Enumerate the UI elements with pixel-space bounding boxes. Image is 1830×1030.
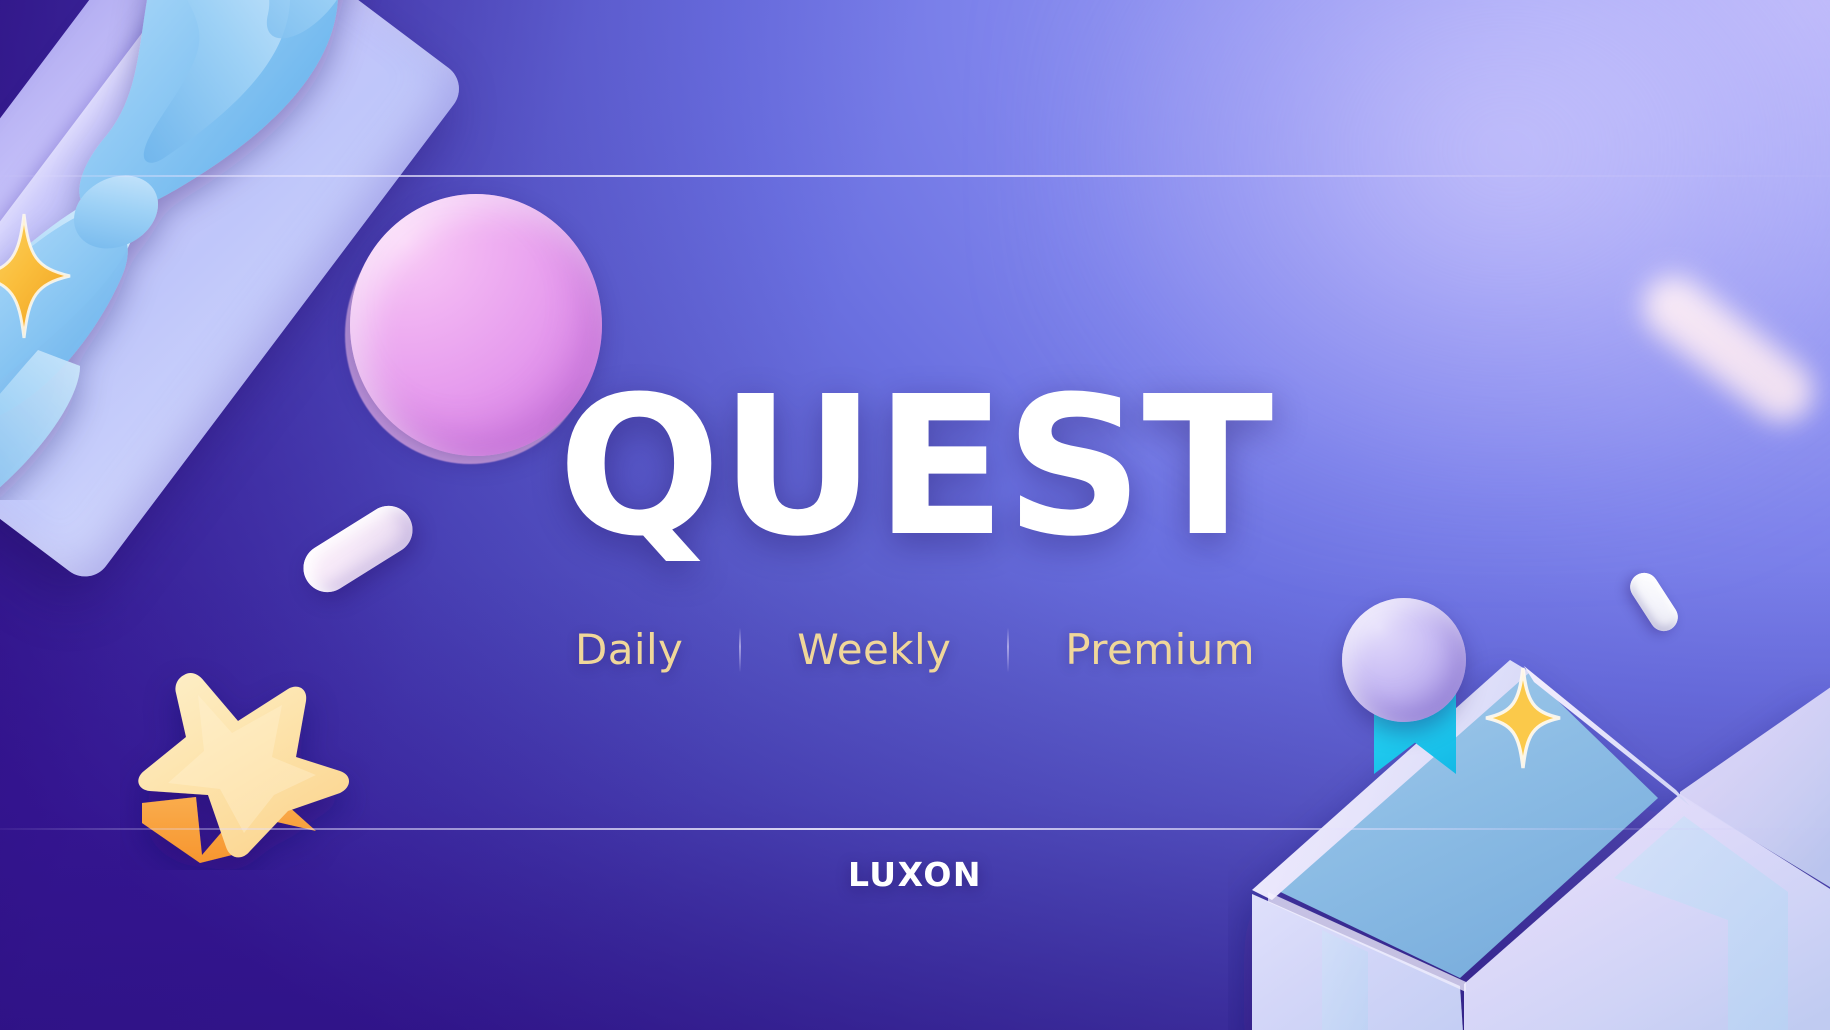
page-title: QUEST (0, 372, 1830, 564)
quest-tier-list: Daily Weekly Premium (0, 625, 1830, 674)
brand-logo: LUXON (0, 855, 1830, 894)
quest-promo-banner: QUEST Daily Weekly Premium LUXON (0, 0, 1830, 1030)
banner-content: QUEST Daily Weekly Premium LUXON (0, 0, 1830, 1030)
quest-tier-daily[interactable]: Daily (519, 625, 739, 674)
quest-tier-weekly[interactable]: Weekly (741, 625, 1007, 674)
quest-tier-premium[interactable]: Premium (1009, 625, 1311, 674)
